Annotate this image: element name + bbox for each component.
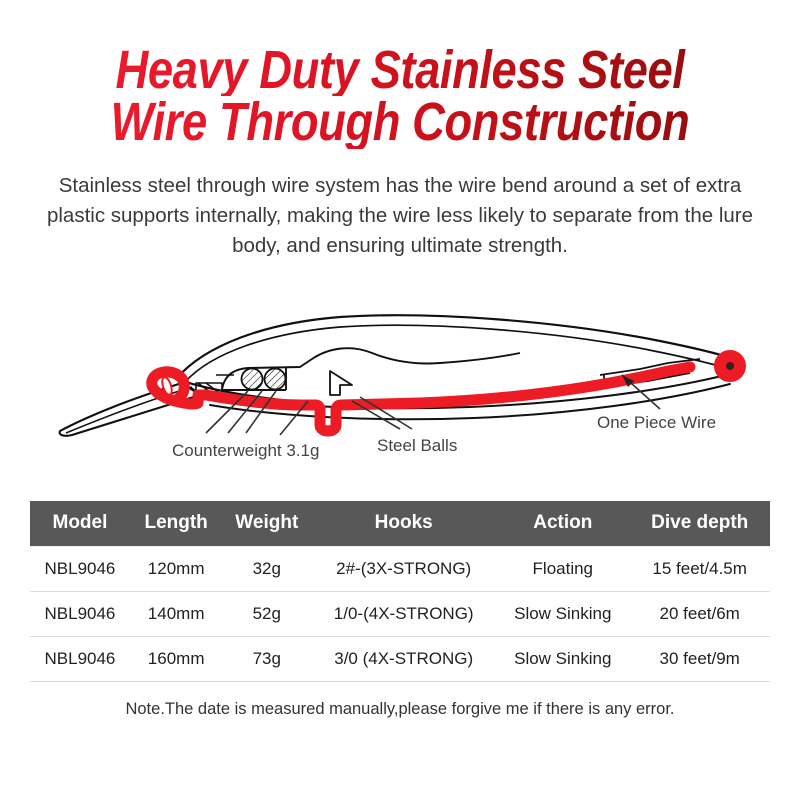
- table-row: NBL9046 140mm 52g 1/0-(4X-STRONG) Slow S…: [30, 591, 770, 636]
- cell-action: Slow Sinking: [496, 591, 629, 636]
- callout-one-piece-wire: One Piece Wire: [597, 413, 716, 433]
- title-line-2: Wire Through Construction: [64, 96, 736, 148]
- cell-hooks: 2#-(3X-STRONG): [311, 546, 496, 591]
- intro-paragraph: Stainless steel through wire system has …: [35, 171, 765, 261]
- cell-action: Slow Sinking: [496, 636, 629, 681]
- title-block: Heavy Duty Stainless Steel Wire Through …: [0, 0, 800, 149]
- lure-diagram: Counterweight 3.1g Steel Balls One Piece…: [0, 283, 800, 483]
- spec-table-header-row: Model Length Weight Hooks Action Dive de…: [30, 501, 770, 547]
- cell-dive-depth: 20 feet/6m: [629, 591, 770, 636]
- cell-action: Floating: [496, 546, 629, 591]
- cell-hooks: 1/0-(4X-STRONG): [311, 591, 496, 636]
- measurement-note: Note.The date is measured manually,pleas…: [0, 700, 800, 719]
- cell-dive-depth: 15 feet/4.5m: [629, 546, 770, 591]
- cell-dive-depth: 30 feet/9m: [629, 636, 770, 681]
- column-header-action: Action: [496, 501, 629, 547]
- column-header-hooks: Hooks: [311, 501, 496, 547]
- cell-hooks: 3/0 (4X-STRONG): [311, 636, 496, 681]
- table-row: NBL9046 120mm 32g 2#-(3X-STRONG) Floatin…: [30, 546, 770, 591]
- cell-model: NBL9046: [30, 591, 130, 636]
- callout-steel-balls: Steel Balls: [377, 436, 457, 456]
- cell-length: 160mm: [130, 636, 223, 681]
- steel-ball-1: [242, 368, 263, 389]
- column-header-weight: Weight: [222, 501, 311, 547]
- cell-length: 140mm: [130, 591, 223, 636]
- cell-model: NBL9046: [30, 546, 130, 591]
- cell-length: 120mm: [130, 546, 223, 591]
- steel-ball-2: [265, 368, 286, 389]
- callout-counterweight: Counterweight 3.1g: [172, 441, 319, 461]
- spec-table-head: Model Length Weight Hooks Action Dive de…: [30, 501, 770, 547]
- column-header-model: Model: [30, 501, 130, 547]
- column-header-dive-depth: Dive depth: [629, 501, 770, 547]
- spec-table-body: NBL9046 120mm 32g 2#-(3X-STRONG) Floatin…: [30, 546, 770, 681]
- column-header-length: Length: [130, 501, 223, 547]
- spec-table-container: Model Length Weight Hooks Action Dive de…: [30, 501, 770, 682]
- cell-weight: 52g: [222, 591, 311, 636]
- table-row: NBL9046 160mm 73g 3/0 (4X-STRONG) Slow S…: [30, 636, 770, 681]
- lure-body-outline: [176, 315, 735, 401]
- title-line-1: Heavy Duty Stainless Steel: [64, 44, 736, 96]
- spec-table: Model Length Weight Hooks Action Dive de…: [30, 501, 770, 682]
- tail-wire-eyelet: [715, 351, 745, 381]
- cell-weight: 32g: [222, 546, 311, 591]
- cell-weight: 73g: [222, 636, 311, 681]
- internal-arrow-marker: [330, 371, 352, 395]
- cell-model: NBL9046: [30, 636, 130, 681]
